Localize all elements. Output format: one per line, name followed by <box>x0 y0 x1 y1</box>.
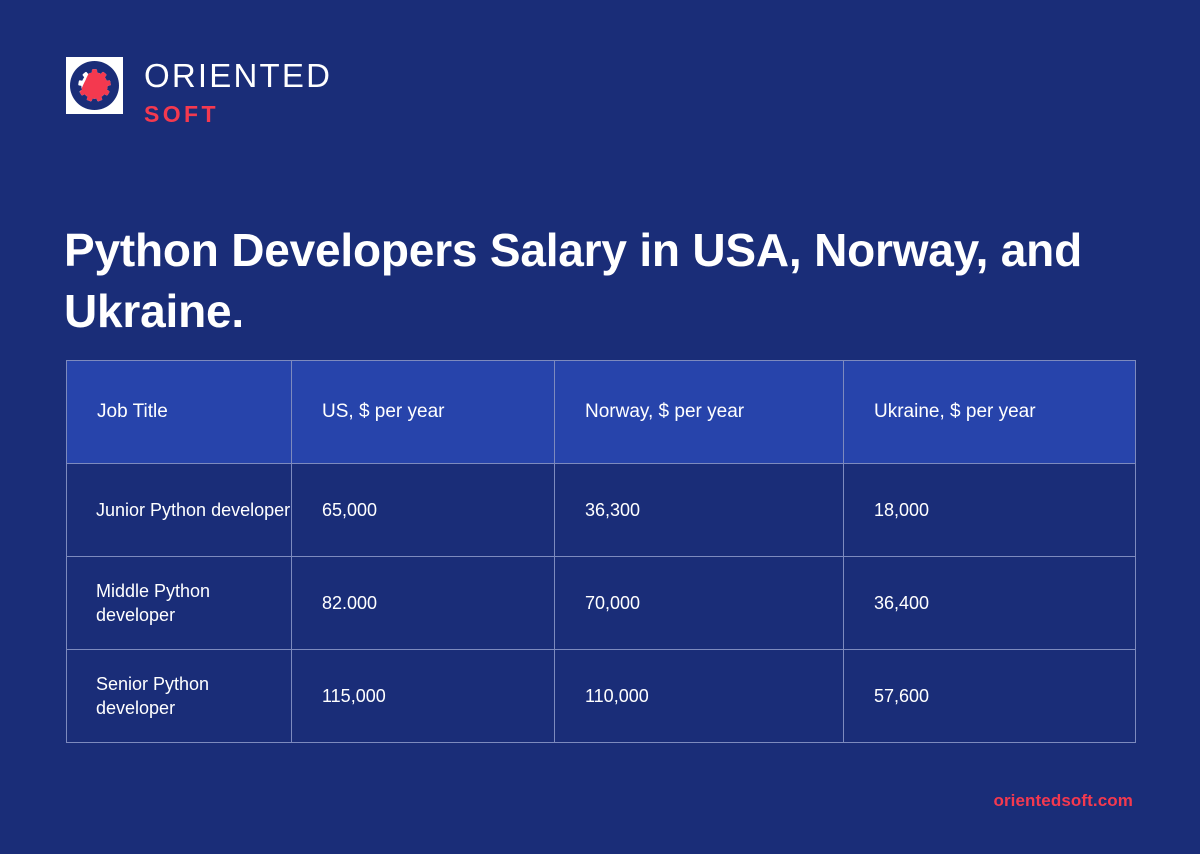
page-title: Python Developers Salary in USA, Norway,… <box>64 220 1094 342</box>
column-header-job-title: Job Title <box>67 361 292 464</box>
cell-job-title: Junior Python developer <box>67 464 292 557</box>
cell-norway-salary: 36,300 <box>555 464 844 557</box>
brand-secondary-name: SOFT <box>144 103 332 126</box>
cell-us-salary: 82.000 <box>292 557 555 650</box>
column-header-norway: Norway, $ per year <box>555 361 844 464</box>
table-row: Middle Python developer 82.000 70,000 36… <box>67 557 1136 650</box>
column-header-ukraine: Ukraine, $ per year <box>844 361 1136 464</box>
brand-wordmark: ORIENTED SOFT <box>144 57 332 126</box>
gear-in-circle-icon <box>66 57 123 114</box>
brand-primary-name: ORIENTED <box>144 59 332 92</box>
table-body: Junior Python developer 65,000 36,300 18… <box>67 464 1136 743</box>
table-row: Senior Python developer 115,000 110,000 … <box>67 650 1136 743</box>
cell-us-salary: 65,000 <box>292 464 555 557</box>
footer-website-link[interactable]: orientedsoft.com <box>993 791 1133 811</box>
cell-norway-salary: 110,000 <box>555 650 844 743</box>
table-header: Job Title US, $ per year Norway, $ per y… <box>67 361 1136 464</box>
cell-ukraine-salary: 18,000 <box>844 464 1136 557</box>
cell-ukraine-salary: 36,400 <box>844 557 1136 650</box>
cell-norway-salary: 70,000 <box>555 557 844 650</box>
cell-job-title: Senior Python developer <box>67 650 292 743</box>
cell-job-title: Middle Python developer <box>67 557 292 650</box>
cell-ukraine-salary: 57,600 <box>844 650 1136 743</box>
column-header-us: US, $ per year <box>292 361 555 464</box>
brand-logo[interactable]: ORIENTED SOFT <box>66 57 332 126</box>
table-row: Junior Python developer 65,000 36,300 18… <box>67 464 1136 557</box>
cell-us-salary: 115,000 <box>292 650 555 743</box>
table-header-row: Job Title US, $ per year Norway, $ per y… <box>67 361 1136 464</box>
salary-table: Job Title US, $ per year Norway, $ per y… <box>66 360 1136 743</box>
